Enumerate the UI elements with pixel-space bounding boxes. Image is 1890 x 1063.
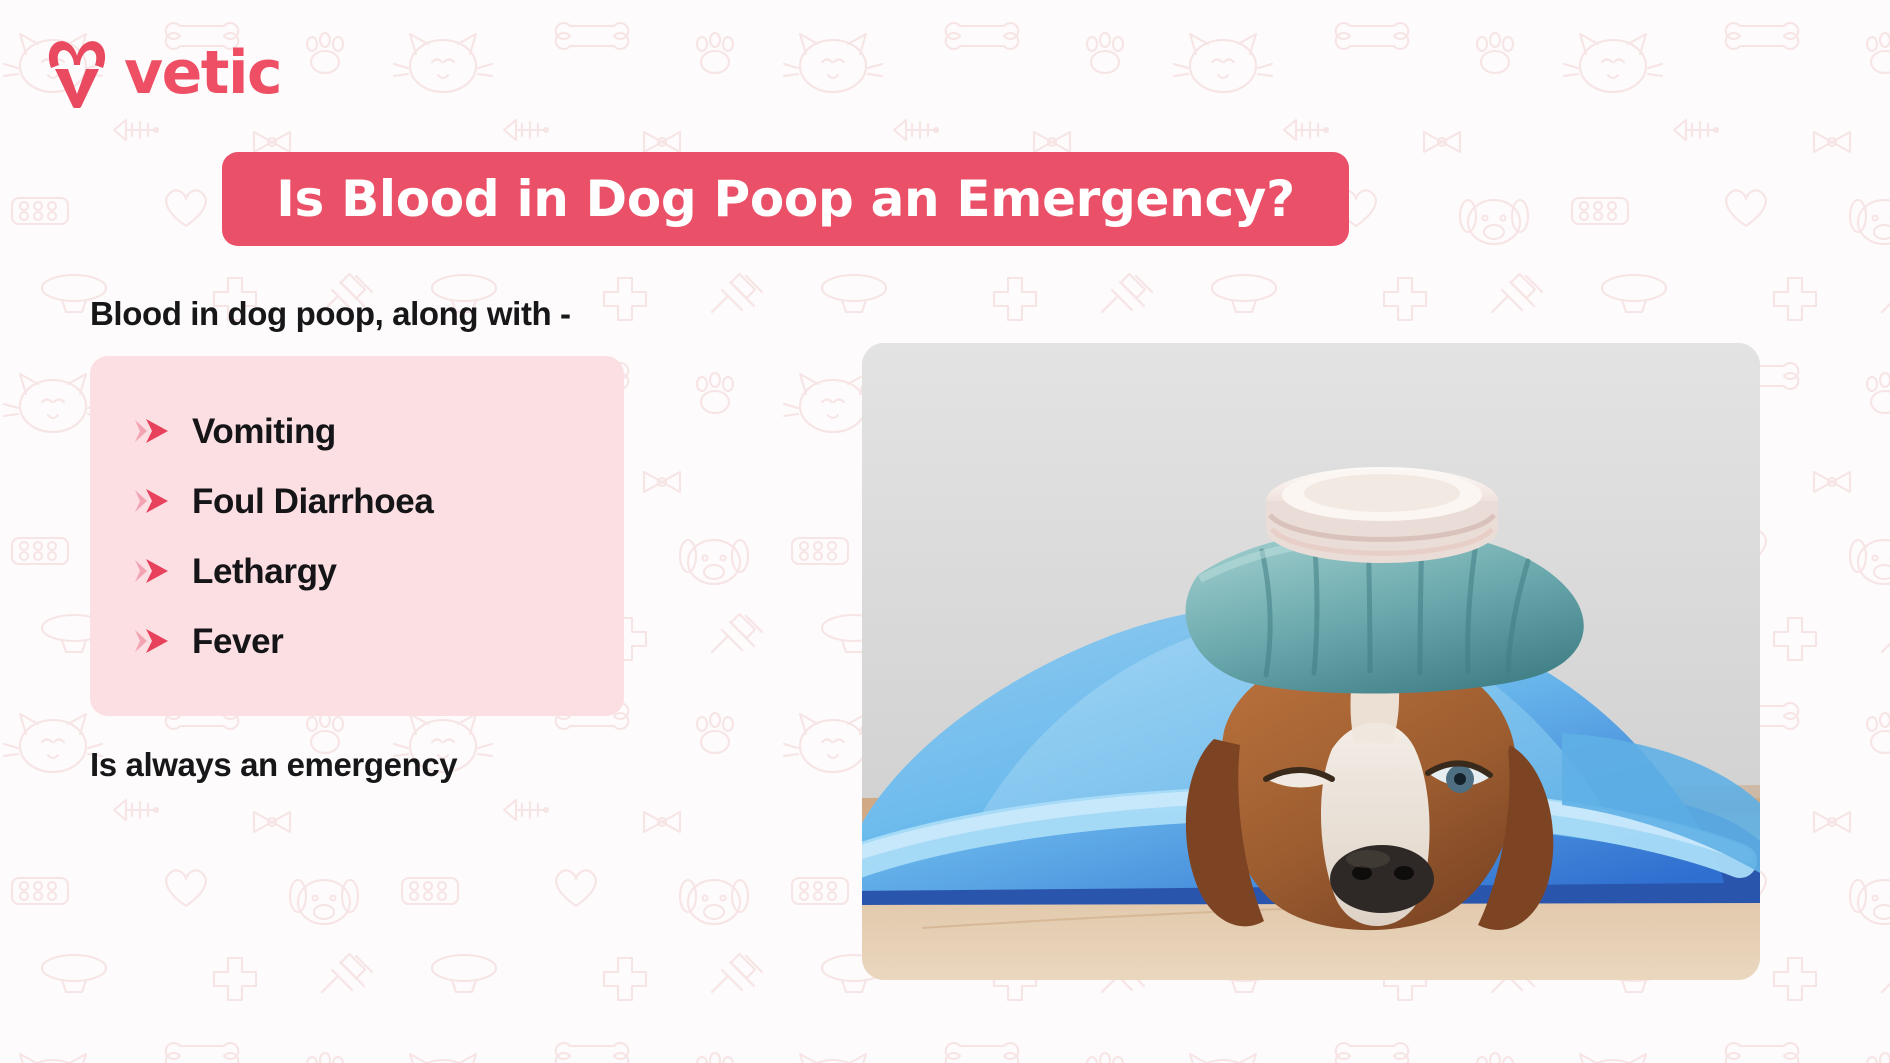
list-item: Vomiting	[90, 396, 624, 466]
left-content-column: Blood in dog poop, along with - Vomiting…	[90, 295, 730, 784]
heart-v-logo-icon	[46, 38, 108, 108]
list-item: Foul Diarrhoea	[90, 466, 624, 536]
list-item-label: Lethargy	[192, 554, 337, 589]
list-item-label: Foul Diarrhoea	[192, 484, 433, 519]
intro-text: Blood in dog poop, along with -	[90, 295, 730, 333]
brand-wordmark: vetic	[124, 43, 281, 103]
brand-logo[interactable]: vetic	[46, 34, 281, 112]
double-chevron-arrow-icon	[134, 626, 170, 656]
list-item-label: Fever	[192, 624, 283, 659]
title-banner: Is Blood in Dog Poop an Emergency?	[222, 152, 1349, 246]
sick-dog-photo	[862, 343, 1760, 980]
list-item: Lethargy	[90, 536, 624, 606]
infographic-canvas: vetic Is Blood in Dog Poop an Emergency?…	[0, 0, 1890, 1063]
double-chevron-arrow-icon	[134, 486, 170, 516]
list-item: Fever	[90, 606, 624, 676]
double-chevron-arrow-icon	[134, 556, 170, 586]
list-item-label: Vomiting	[192, 414, 336, 449]
page-title: Is Blood in Dog Poop an Emergency?	[276, 170, 1295, 228]
outro-text: Is always an emergency	[90, 746, 730, 784]
double-chevron-arrow-icon	[134, 416, 170, 446]
symptom-list-card: Vomiting Foul Diarrhoea Lethargy	[90, 356, 624, 716]
